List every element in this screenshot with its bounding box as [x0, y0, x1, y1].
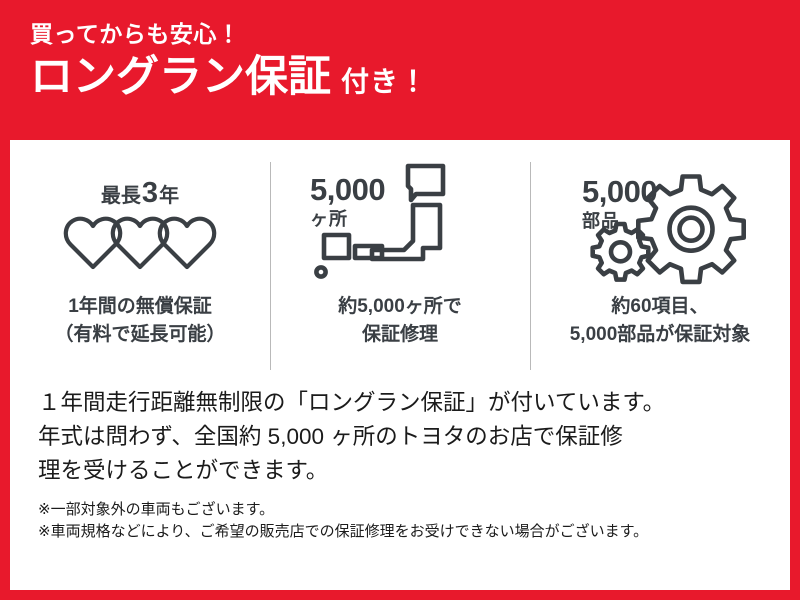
parts-unit: 部品: [582, 212, 657, 230]
footnote-list: ※一部対象外の車両もございます。 ※車両規格などにより、ご希望の販売店での保証修…: [10, 489, 790, 590]
feature-visual-hearts: 最長 3 年: [16, 158, 264, 293]
longrun-warranty-poster: 買ってからも安心！ ロングラン保証 付き！ 最長 3 年: [0, 0, 800, 600]
banner-headline: ロングラン保証 付き！: [30, 55, 800, 100]
banner-headline-sub: 付き！: [341, 60, 428, 100]
body-paragraph: １年間走行距離無制限の「ロングラン保証」が付いています。 年式は問わず、全国約 …: [10, 380, 790, 489]
three-hearts-icon: [62, 210, 218, 272]
caption-line-2: （有料で延長可能）: [54, 321, 225, 349]
badge-number: 3: [142, 179, 158, 208]
caption-line-1: 約60項目、: [570, 293, 751, 321]
caption-line-2: 5,000部品が保証対象: [570, 321, 751, 349]
caption-line-2: 保証修理: [338, 321, 462, 349]
body-line-1: １年間走行距離無制限の「ロングラン保証」が付いています。: [38, 386, 762, 420]
feature-caption-service-locations: 約5,000ヶ所で 保証修理: [338, 293, 462, 348]
feature-caption-warranty-period: 1年間の無償保証 （有料で延長可能）: [54, 293, 225, 348]
feature-visual-gears: 5,000 部品: [536, 158, 784, 293]
footnote-item: ※一部対象外の車両もございます。: [38, 499, 762, 522]
feature-visual-japan-map: 5,000 ヶ所: [276, 158, 524, 293]
parts-number: 5,000: [582, 176, 657, 207]
warranty-period-badge: 最長 3 年: [101, 179, 179, 208]
feature-columns: 最長 3 年 1年間の無償: [10, 140, 790, 380]
header-banner: 買ってからも安心！ ロングラン保証 付き！: [0, 0, 800, 140]
locations-number: 5,000: [310, 174, 385, 205]
body-line-2: 年式は問わず、全国約 5,000 ヶ所のトヨタのお店で保証修: [38, 420, 762, 454]
locations-unit: ヶ所: [310, 210, 385, 228]
body-line-3: 理を受けることができます。: [38, 454, 762, 488]
covered-parts-number-block: 5,000 部品: [582, 176, 657, 230]
feature-caption-covered-parts: 約60項目、 5,000部品が保証対象: [570, 293, 751, 348]
banner-headline-main: ロングラン保証: [30, 55, 331, 100]
content-card: 最長 3 年 1年間の無償: [10, 140, 790, 590]
badge-prefix: 最長: [101, 186, 141, 206]
feature-covered-parts: 5,000 部品: [530, 158, 790, 380]
banner-kicker: 買ってからも安心！: [30, 22, 800, 47]
caption-line-1: 1年間の無償保証: [54, 293, 225, 321]
feature-warranty-period: 最長 3 年 1年間の無償: [10, 158, 270, 380]
feature-service-locations: 5,000 ヶ所: [270, 158, 530, 380]
footnote-item: ※車両規格などにより、ご希望の販売店での保証修理をお受けできない場合がございます…: [38, 521, 762, 544]
badge-suffix: 年: [159, 186, 179, 206]
caption-line-1: 約5,000ヶ所で: [338, 293, 462, 321]
service-locations-number-block: 5,000 ヶ所: [310, 174, 385, 228]
